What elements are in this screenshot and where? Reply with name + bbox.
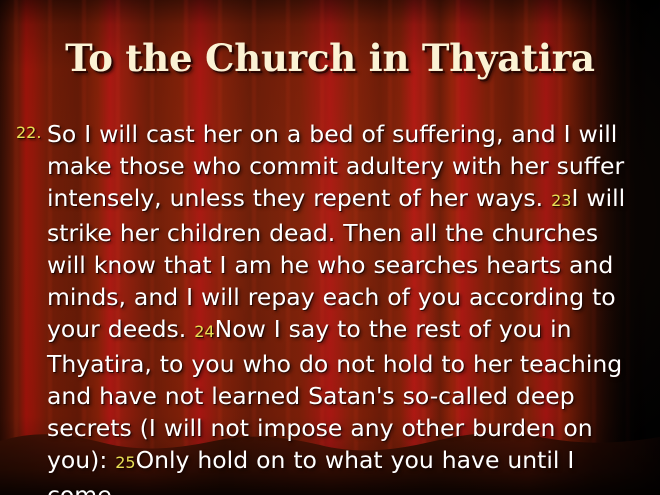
verse-number-25: 25 (115, 453, 135, 472)
verse-number-24: 24 (194, 322, 214, 341)
scripture-body: 22. So I will cast her on a bed of suffe… (16, 118, 644, 495)
verse-number-23: 23 (551, 191, 571, 210)
slide-title: To the Church in Thyatira (0, 36, 660, 80)
verse-number-22: 22. (16, 121, 41, 145)
scripture-paragraph: 22. So I will cast her on a bed of suffe… (16, 118, 644, 495)
verse-segment-1: So I will cast her on a bed of suffering… (47, 120, 624, 212)
presentation-slide: To the Church in Thyatira 22. So I will … (0, 0, 660, 495)
